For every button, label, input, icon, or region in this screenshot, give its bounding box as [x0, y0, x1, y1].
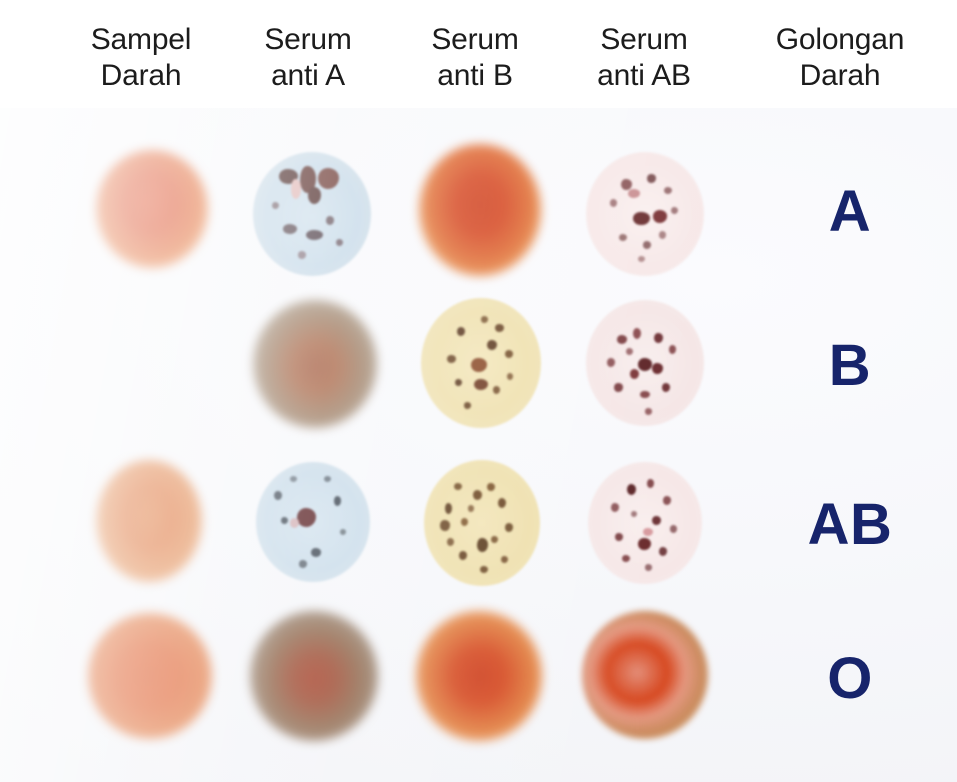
blood-type-label-a: A: [760, 183, 940, 241]
column-header-serum-anti-ab: Serum anti AB: [568, 22, 720, 94]
spot-row-ab-serum-anti-ab: [588, 462, 702, 584]
agglutination-clumps: [586, 300, 704, 426]
spot-row-o-serum-anti-a: [250, 611, 378, 741]
column-header-band: Sampel Darah Serum anti A Serum anti B S…: [0, 0, 957, 108]
agglutination-clumps: [588, 462, 702, 584]
spot-row-o-serum-anti-b: [416, 611, 542, 741]
spot-row-b-serum-anti-b: [421, 298, 541, 428]
spot-row-o-serum-anti-ab: [582, 611, 708, 739]
agglutination-clumps: [586, 152, 704, 276]
column-header-serum-anti-a: Serum anti A: [235, 22, 381, 94]
column-header-serum-anti-b: Serum anti B: [402, 22, 548, 94]
spot-row-ab-serum-anti-a: [256, 462, 370, 582]
blood-type-label-o: O: [760, 650, 940, 708]
spot-row-a-sampel-darah: [96, 150, 208, 268]
spot-row-b-serum-anti-ab: [586, 300, 704, 426]
column-header-golongan-darah: Golongan Darah: [740, 22, 940, 94]
agglutination-clumps: [424, 460, 540, 586]
spot-row-b-serum-anti-a: [253, 300, 377, 428]
spot-row-a-serum-anti-ab: [586, 152, 704, 276]
spot-row-a-serum-anti-b: [419, 144, 541, 276]
spot-row-ab-sampel-darah: [96, 460, 202, 582]
spot-row-a-serum-anti-a: [253, 152, 371, 276]
agglutination-clumps: [256, 462, 370, 582]
spot-row-ab-serum-anti-b: [424, 460, 540, 586]
spot-row-o-sampel-darah: [88, 613, 212, 739]
column-header-sampel-darah: Sampel Darah: [68, 22, 214, 94]
blood-type-label-ab: AB: [752, 496, 948, 554]
agglutination-clumps: [421, 298, 541, 428]
agglutination-clumps: [253, 152, 371, 276]
blood-type-label-b: B: [760, 337, 940, 395]
blood-typing-chart: Sampel Darah Serum anti A Serum anti B S…: [0, 0, 957, 782]
spot-row-b-sampel-darah: [98, 304, 208, 422]
